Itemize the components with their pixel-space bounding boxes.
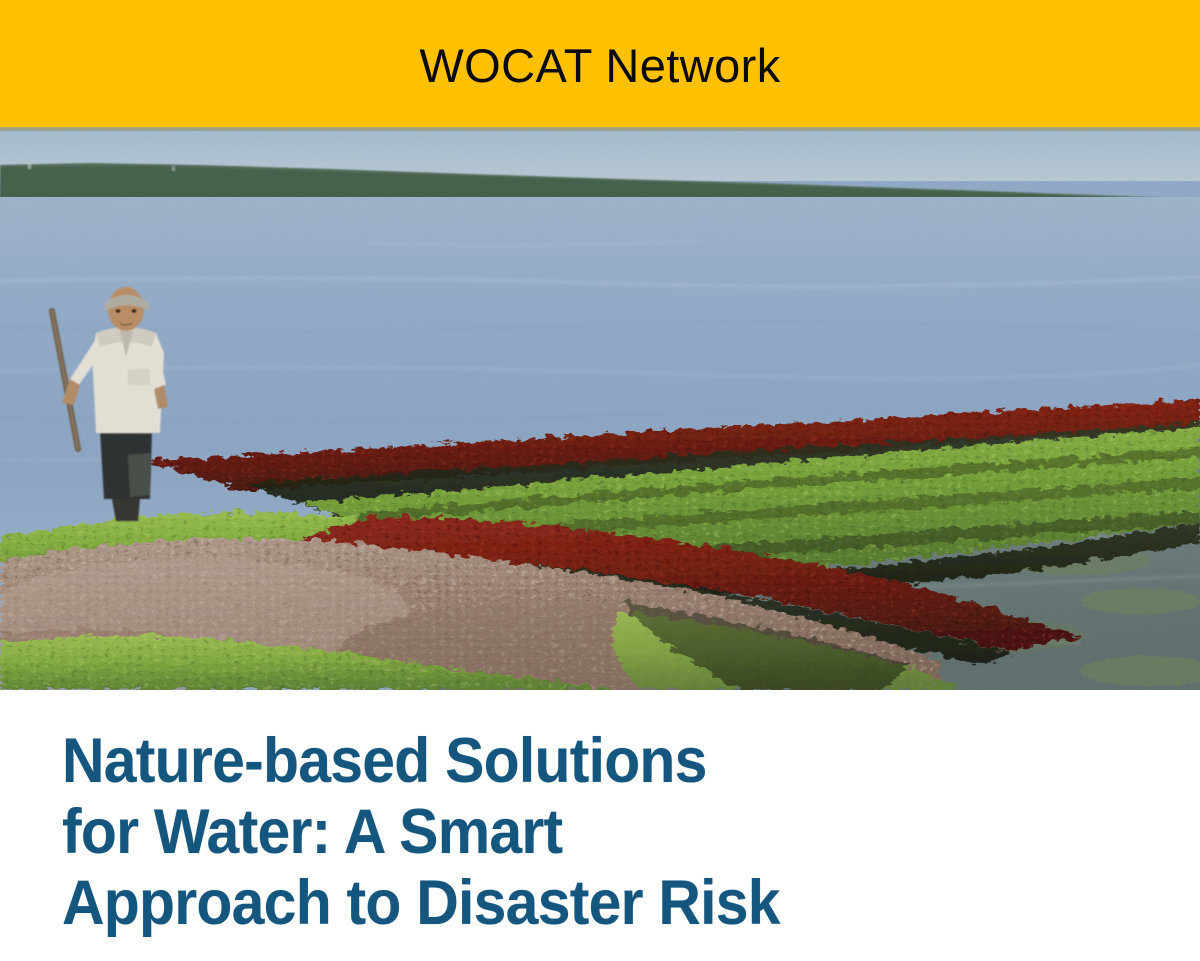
page-root: WOCAT Network xyxy=(0,0,1200,961)
hero-photo xyxy=(0,131,1200,690)
title-line-3: Approach to Disaster Risk xyxy=(62,868,1126,939)
title-line-1: Nature-based Solutions xyxy=(62,726,1126,797)
title-block: Nature-based Solutions for Water: A Smar… xyxy=(0,690,1200,961)
page-title: WOCAT Network xyxy=(419,42,780,89)
title-line-2: for Water: A Smart xyxy=(62,797,1126,868)
hero-photo-illustration xyxy=(0,131,1200,690)
photo-grain xyxy=(0,131,1200,690)
header-bar: WOCAT Network xyxy=(0,0,1200,127)
